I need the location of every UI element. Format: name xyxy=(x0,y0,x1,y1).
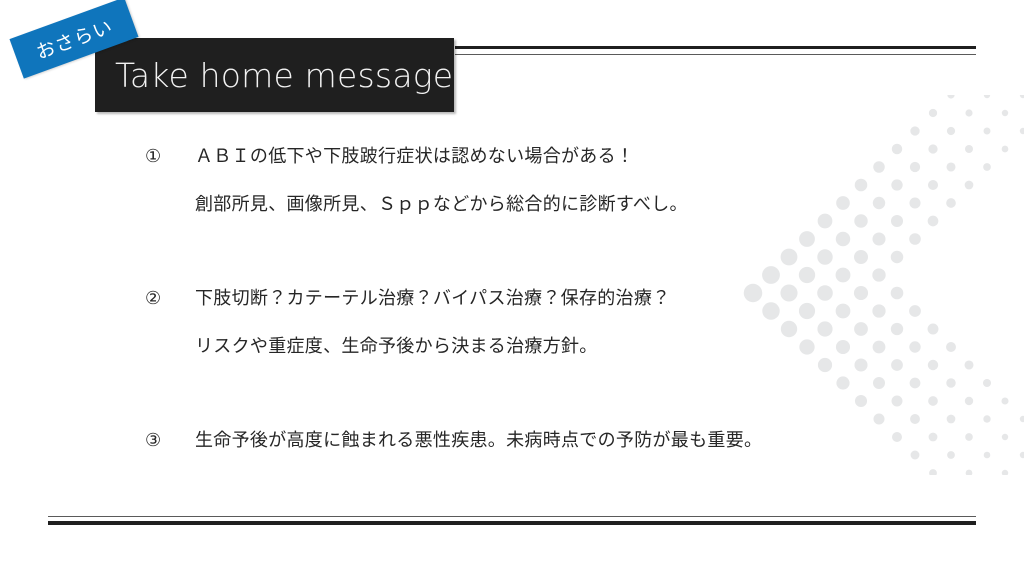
message-item-lines: ＡＢＩの低下や下肢跛行症状は認めない場合がある！創部所見、画像所見、Ｓｐｐなどか… xyxy=(195,140,925,220)
top-rule-thick xyxy=(455,46,976,49)
slide-canvas: Take home message おさらい ①ＡＢＩの低下や下肢跛行症状は認め… xyxy=(0,0,1024,576)
message-item: ②下肢切断？カテーテル治療？バイパス治療？保存的治療？リスクや重症度、生命予後か… xyxy=(145,282,925,362)
message-item-line: 生命予後が高度に蝕まれる悪性疾患。未病時点での予防が最も重要。 xyxy=(195,424,925,456)
message-item-line: 創部所見、画像所見、Ｓｐｐなどから総合的に診断すべし。 xyxy=(195,188,925,220)
message-item-lines: 下肢切断？カテーテル治療？バイパス治療？保存的治療？リスクや重症度、生命予後から… xyxy=(195,282,925,362)
page-title: Take home message xyxy=(95,56,453,95)
message-list: ①ＡＢＩの低下や下肢跛行症状は認めない場合がある！創部所見、画像所見、Ｓｐｐなど… xyxy=(145,140,925,456)
message-item: ③生命予後が高度に蝕まれる悪性疾患。未病時点での予防が最も重要。 xyxy=(145,424,925,456)
message-item-marker: ② xyxy=(145,282,175,314)
bottom-rule-thin xyxy=(48,516,976,517)
message-item: ①ＡＢＩの低下や下肢跛行症状は認めない場合がある！創部所見、画像所見、Ｓｐｐなど… xyxy=(145,140,925,220)
message-item-line: リスクや重症度、生命予後から決まる治療方針。 xyxy=(195,330,925,362)
title-box: Take home message xyxy=(95,38,454,112)
message-item-marker: ① xyxy=(145,140,175,172)
message-item-marker: ③ xyxy=(145,424,175,456)
message-item-line: ＡＢＩの低下や下肢跛行症状は認めない場合がある！ xyxy=(195,140,925,172)
message-item-lines: 生命予後が高度に蝕まれる悪性疾患。未病時点での予防が最も重要。 xyxy=(195,424,925,456)
bottom-rule-thick xyxy=(48,521,976,525)
message-item-line: 下肢切断？カテーテル治療？バイパス治療？保存的治療？ xyxy=(195,282,925,314)
top-rule-thin xyxy=(455,54,976,55)
